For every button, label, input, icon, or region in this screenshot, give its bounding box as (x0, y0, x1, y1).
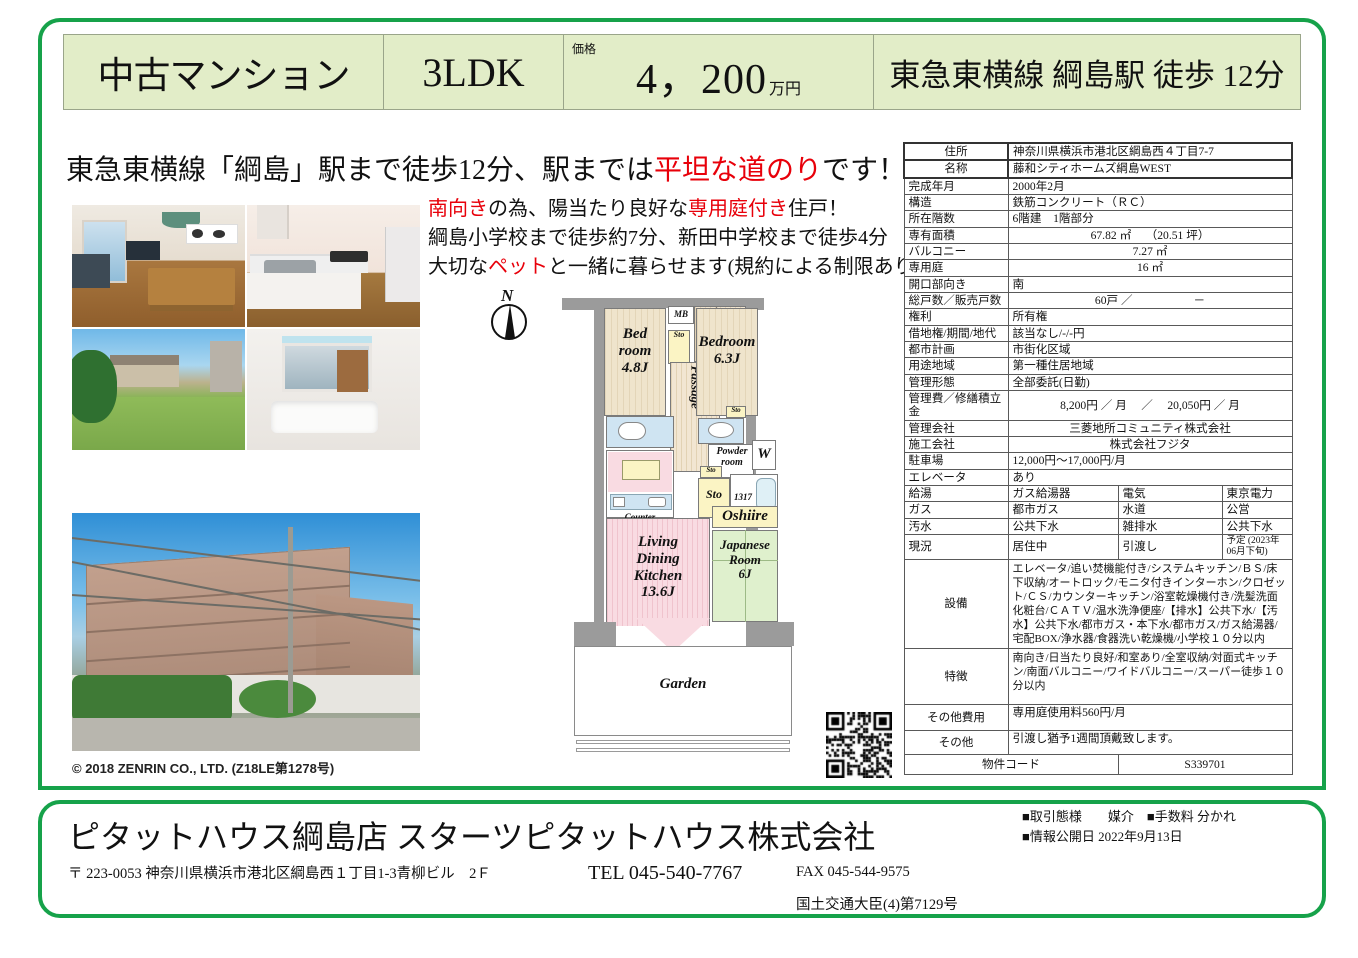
table-row: 権利所有権 (904, 309, 1292, 325)
features-key: 特徴 (904, 649, 1008, 705)
utility-value: 予定 (2023年06月下旬) (1222, 534, 1292, 559)
table-row: 構造鉄筋コンクリート（ＲＣ） (904, 194, 1292, 210)
bathroom-size-label: 1317 (728, 492, 758, 502)
utility-value: 都市ガス (1008, 502, 1118, 518)
detail-key: 完成年月 (904, 178, 1008, 195)
detail-key: 施工会社 (904, 436, 1008, 452)
price-caption: 価格 (572, 40, 596, 57)
basin-fixture (708, 422, 734, 438)
detail-key: 用途地域 (904, 358, 1008, 374)
detail-value: 株式会社フジタ (1008, 436, 1292, 452)
sub-headline: 南向きの為、陽当たり良好な専用庭付き住戸！ 綱島小学校まで徒歩約7分、新田中学校… (428, 195, 920, 282)
agency-tel: TEL 045-540-7767 (588, 862, 742, 885)
kitchen-cabinets (247, 273, 361, 309)
structural-wall (594, 298, 604, 498)
table-row: 汚水公共下水雑排水公共下水 (904, 518, 1292, 534)
detail-key: バルコニー (904, 243, 1008, 259)
table-row: 住所神奈川県横浜市港北区綱島西４丁目7-7 (904, 143, 1292, 160)
other-value: 引渡し猶予1週間頂戴致します。 (1008, 731, 1292, 755)
sofa (72, 254, 110, 288)
building-exterior-photo (72, 513, 420, 751)
sub-headline-line3: 大切なペットと一緒に暮らせます(規約による制限あり) (428, 253, 920, 282)
bedroom-small-label: Bedroom4.8J (604, 326, 666, 376)
table-row: 給湯ガス給湯器電気東京電力 (904, 485, 1292, 501)
road (72, 718, 420, 751)
table-row: 管理形態全部委託(日勤) (904, 374, 1292, 390)
utility-key: 現況 (904, 534, 1008, 559)
agency-name: ピタットハウス綱島店 スターツピタットハウス株式会社 (68, 812, 875, 858)
property-code-value: S339701 (1118, 755, 1292, 775)
detail-value: 藤和シティホームズ綱島WEST (1008, 160, 1292, 177)
sub-headline-line2: 綱島小学校まで徒歩約7分、新田中学校まで徒歩4分 (428, 224, 920, 253)
sink-plan (648, 497, 666, 507)
table-row: その他引渡し猶予1週間頂戴致します。 (904, 731, 1292, 755)
toilet-fixture (618, 422, 646, 440)
utility-key: 引渡し (1118, 534, 1222, 559)
table-row: 管理会社三菱地所コミュニティ株式会社 (904, 420, 1292, 436)
utility-value: 公営 (1222, 502, 1292, 518)
detail-key: 都市計画 (904, 341, 1008, 357)
utility-pole (288, 527, 293, 713)
utility-value: 公共下水 (1222, 518, 1292, 534)
bedroom-main-label: Bedroom6.3J (692, 334, 762, 368)
features-value: 南向き/日当たり良好/和室あり/全室収納/対面式キッチン/南面バルコニー/ワイド… (1008, 649, 1292, 705)
detail-value: 該当なし/-/-円 (1008, 325, 1292, 341)
detail-value: 7.27 ㎡ (1008, 243, 1292, 259)
detail-key: 駐車場 (904, 453, 1008, 469)
garden-photo (72, 329, 245, 451)
sub-line1-d: 住戸！ (788, 198, 848, 220)
compass-needle (505, 304, 515, 338)
table-row: 総戸数／販売戸数60戸 ／ － (904, 292, 1292, 308)
sub-line1-b: の為、陽当たり良好な (488, 198, 688, 220)
garden-fence (576, 740, 790, 744)
price-cell: 価格 4，200 万円 (564, 35, 874, 109)
detail-key: 管理形態 (904, 374, 1008, 390)
detail-value: 60戸 ／ － (1008, 292, 1292, 308)
price-unit: 万円 (769, 75, 801, 109)
table-row: ガス都市ガス水道公営 (904, 502, 1292, 518)
table-row: 開口部向き南 (904, 276, 1292, 292)
table-row: 設備エレベータ/追い焚機能付き/システムキッチン/ＢＳ/床下収納/オートロック/… (904, 559, 1292, 648)
agency-address: 〒 223-0053 神奈川県横浜市港北区綱島西１丁目1-3青柳ビル 2Ｆ (68, 862, 491, 883)
utility-key: 電気 (1118, 485, 1222, 501)
table-row: 管理費／修繕積立金8,200円 ／ 月 ／ 20,050円 ／ 月 (904, 390, 1292, 420)
refrigerator (385, 227, 420, 302)
wall-art (186, 224, 238, 243)
washer-space-label: W (752, 446, 776, 463)
table-row: その他費用専用庭使用料560円/月 (904, 705, 1292, 731)
detail-value: 6階建 1階部分 (1008, 211, 1292, 227)
headline-part1: 東急東横線「綱島」駅まで徒歩12分、駅までは (66, 155, 654, 186)
zenrin-copyright: © 2018 ZENRIN CO., LTD. (Z18LE第1278号) (72, 758, 334, 777)
range-hood (257, 205, 288, 239)
detail-key: 権利 (904, 309, 1008, 325)
table-row: 物件コードS339701 (904, 755, 1292, 775)
detail-value: 南 (1008, 276, 1292, 292)
japanese-room-label: JapaneseRoom6J (708, 538, 782, 582)
side-shrub (239, 680, 316, 718)
detail-value: 第一種住居地域 (1008, 358, 1292, 374)
detail-key: 構造 (904, 194, 1008, 210)
table-row: 施工会社株式会社フジタ (904, 436, 1292, 452)
table-row: バルコニー7.27 ㎡ (904, 243, 1292, 259)
details-tbody: 住所神奈川県横浜市港北区綱島西４丁目7-7 名称藤和シティホームズ綱島WEST … (904, 143, 1292, 775)
utility-key: 給湯 (904, 485, 1008, 501)
detail-value: あり (1008, 469, 1292, 485)
photo-grid (72, 205, 420, 450)
detail-value: 市街化区域 (1008, 341, 1292, 357)
sub-line3-c: と一緒に暮らせます(規約による制限あり) (548, 256, 920, 278)
other-cost-value: 専用庭使用料560円/月 (1008, 705, 1292, 731)
table-row: 所在階数6階建 1階部分 (904, 211, 1292, 227)
qr-code[interactable] (826, 712, 892, 778)
neighbor-building (210, 341, 241, 392)
detail-key: 住所 (904, 143, 1008, 160)
detail-value: 8,200円 ／ 月 ／ 20,050円 ／ 月 (1008, 390, 1292, 420)
headline-part2: です！ (822, 155, 906, 186)
detail-key: 専用庭 (904, 260, 1008, 276)
closet-oshiire-label: Oshiire (712, 508, 778, 525)
gas-hob-plan (613, 497, 625, 507)
living-room-photo (72, 205, 245, 327)
living-dining-kitchen-label: LivingDiningKitchen13.6J (606, 534, 710, 601)
kitchen-island (622, 460, 660, 480)
washroom-vanity-photo (247, 329, 420, 451)
table-row: 完成年月2000年2月 (904, 178, 1292, 195)
agency-license: 国土交通大臣(4)第7129号 (796, 893, 958, 914)
equipment-key: 設備 (904, 559, 1008, 648)
detail-key: 管理費／修繕積立金 (904, 390, 1008, 420)
utility-value: 公共下水 (1008, 518, 1118, 534)
gas-hob (330, 251, 368, 262)
sub-line1-a: 南向き (428, 198, 488, 220)
neighbor-house (110, 355, 179, 387)
table-row: 駐車場12,000円～17,000円/月 (904, 453, 1292, 469)
table-row: 用途地域第一種住居地域 (904, 358, 1292, 374)
detail-key: 総戸数／販売戸数 (904, 292, 1008, 308)
meter-box-label: MB (668, 309, 694, 319)
table-row: エレベータあり (904, 469, 1292, 485)
front-hedge (72, 675, 232, 723)
headline-highlight: 平坦な道のり (654, 155, 822, 186)
washroom-door (337, 350, 368, 391)
detail-key: 借地権/期間/地代 (904, 325, 1008, 341)
storage-bedroom-label: Sto (726, 407, 746, 415)
wash-basin (271, 401, 378, 433)
table-row: 現況居住中引渡し予定 (2023年06月下旬) (904, 534, 1292, 559)
header-band: 中古マンション 3LDK 価格 4，200 万円 東急東横線 綱島駅 徒歩 12… (63, 34, 1301, 110)
detail-value: 三菱地所コミュニティ株式会社 (1008, 420, 1292, 436)
detail-value: 16 ㎡ (1008, 260, 1292, 276)
detail-key: 名称 (904, 160, 1008, 177)
property-type-label: 中古マンション (98, 45, 350, 99)
utility-key: ガス (904, 502, 1008, 518)
compass-icon: N (488, 288, 530, 348)
detail-value: 鉄筋コンクリート（ＲＣ） (1008, 194, 1292, 210)
detail-value: 2000年2月 (1008, 178, 1292, 195)
detail-value: 所有権 (1008, 309, 1292, 325)
published-date: ■情報公開日 2022年9月13日 (1022, 826, 1183, 845)
utility-value: 東京電力 (1222, 485, 1292, 501)
table-row: 都市計画市街化区域 (904, 341, 1292, 357)
structural-wall (750, 622, 794, 646)
detail-key: 専有面積 (904, 227, 1008, 243)
table-row: 特徴南向き/日当たり良好/和室あり/全室収納/対面式キッチン/南面バルコニー/ワ… (904, 649, 1292, 705)
headline: 東急東横線「綱島」駅まで徒歩12分、駅までは平坦な道のりです！ (66, 148, 906, 188)
other-cost-key: その他費用 (904, 705, 1008, 731)
detail-key: 管理会社 (904, 420, 1008, 436)
property-code-key: 物件コード (904, 755, 1118, 775)
kitchen-photo (247, 205, 420, 327)
tv (126, 241, 161, 259)
detail-key: 所在階数 (904, 211, 1008, 227)
property-details-table: 住所神奈川県横浜市港北区綱島西４丁目7-7 名称藤和シティホームズ綱島WEST … (903, 142, 1293, 775)
property-type-cell: 中古マンション (64, 35, 384, 109)
price-value: 4，200 (636, 39, 767, 106)
garden-label: Garden (574, 676, 792, 693)
station-cell: 東急東横線 綱島駅 徒歩 12分 (874, 35, 1300, 109)
detail-value: 12,000円～17,000円/月 (1008, 453, 1292, 469)
transaction-type: ■取引態様 媒介 ■手数料 分かれ (1022, 806, 1236, 825)
utility-key: 水道 (1118, 502, 1222, 518)
equipment-value: エレベータ/追い焚機能付き/システムキッチン/ＢＳ/床下収納/オートロック/モニ… (1008, 559, 1292, 648)
agency-fax: FAX 045-544-9575 (796, 864, 910, 881)
storage-hall-label: Sto (700, 467, 722, 475)
floor-plan: Bedroom4.8J MB Sto Ent Passage Bedroom6.… (560, 288, 808, 756)
garden-fence (576, 748, 790, 752)
qr-code-canvas (826, 712, 892, 778)
garden-bush (72, 350, 117, 423)
sub-headline-line1: 南向きの為、陽当たり良好な専用庭付き住戸！ (428, 195, 920, 224)
sub-line1-c: 専用庭付き (688, 198, 788, 220)
other-key: その他 (904, 731, 1008, 755)
utility-value: 居住中 (1008, 534, 1118, 559)
table-row: 借地権/期間/地代該当なし/-/-円 (904, 325, 1292, 341)
sub-line3-a: 大切な (428, 256, 488, 278)
table-row: 名称藤和シティホームズ綱島WEST (904, 160, 1292, 177)
utility-key: 雑排水 (1118, 518, 1222, 534)
detail-value: 67.82 ㎡ （20.51 坪） (1008, 227, 1292, 243)
sub-line3-b: ペット (488, 256, 548, 278)
detail-value: 全部委託(日勤) (1008, 374, 1292, 390)
layout-cell: 3LDK (384, 35, 564, 109)
utility-value: ガス給湯器 (1008, 485, 1118, 501)
detail-key: エレベータ (904, 469, 1008, 485)
table-row: 専有面積67.82 ㎡ （20.51 坪） (904, 227, 1292, 243)
station-label: 東急東横線 綱島駅 徒歩 12分 (889, 50, 1284, 95)
utility-key: 汚水 (904, 518, 1008, 534)
storage-entrance-label: Sto (668, 331, 690, 340)
layout-label: 3LDK (422, 49, 524, 96)
compass-north-label: N (501, 286, 513, 306)
table-row: 専用庭16 ㎡ (904, 260, 1292, 276)
detail-value: 神奈川県横浜市港北区綱島西４丁目7-7 (1008, 143, 1292, 160)
detail-key: 開口部向き (904, 276, 1008, 292)
storage-main-label: Sto (698, 488, 730, 501)
